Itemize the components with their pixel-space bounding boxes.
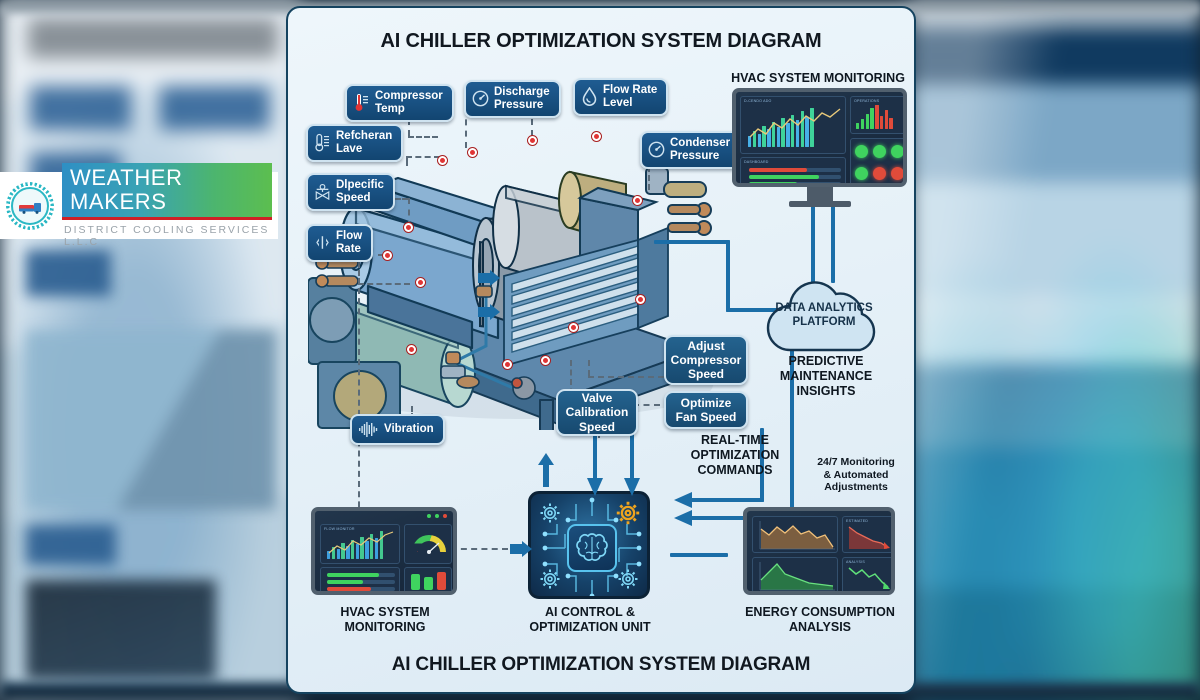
- gear-icon: [617, 568, 639, 590]
- command-label: Optimize Fan Speed: [676, 396, 737, 424]
- logo-title: WEATHER MAKERS: [62, 163, 272, 219]
- badge-label: Flow Rate: [336, 230, 362, 256]
- sensor-point: [592, 132, 601, 141]
- command-label: Valve Calibration Speed: [566, 391, 629, 433]
- sensor-point: [528, 136, 537, 145]
- water-drop-icon: [581, 87, 598, 106]
- sensor-point: [541, 356, 550, 365]
- page-title: AI CHILLER OPTIMIZATION SYSTEM DIAGRAM: [288, 30, 914, 53]
- arrow-left-icon: [674, 510, 692, 531]
- caption-hvac-monitoring-top: HVAC SYSTEM MONITORING: [718, 71, 916, 86]
- badge-flow-rate-level[interactable]: Flow Rate Level: [573, 78, 668, 116]
- blurred-background-left-lower: [26, 250, 276, 680]
- badge-label: Vibration: [384, 423, 434, 436]
- sensor-point: [404, 223, 413, 232]
- badge-discharge-pressure[interactable]: Discharge Pressure: [464, 80, 561, 118]
- connector-dashed: [406, 156, 440, 158]
- sensor-point: [633, 196, 642, 205]
- valve-icon: [314, 182, 331, 201]
- arrow-down-icon: [624, 478, 640, 501]
- screenshot-stage: WEATHER MAKERS DISTRICT COOLING SERVICES…: [0, 0, 1200, 700]
- connector-dashed: [588, 376, 664, 378]
- flow-meter-icon: [314, 233, 331, 252]
- connector-dashed: [588, 360, 590, 376]
- connector-solid: [831, 203, 835, 283]
- arrow-right-icon: [478, 270, 500, 291]
- command-label: Adjust Compressor Speed: [671, 339, 742, 381]
- gear-icon: [539, 568, 561, 590]
- gauge-icon: [472, 89, 489, 108]
- energy-consumption-panel: ESTIMATED ANALYSIS: [743, 507, 895, 595]
- connector-solid: [811, 203, 815, 283]
- connector-dashed: [406, 156, 408, 166]
- sensor-point: [468, 148, 477, 157]
- gear-icon: [539, 502, 561, 524]
- arrow-down-icon: [587, 478, 603, 501]
- weather-makers-logo: WEATHER MAKERS DISTRICT COOLING SERVICES…: [0, 172, 278, 239]
- hvac-dashboard-panel: FLOW MONITOR: [311, 507, 457, 595]
- logo-tagline: DISTRICT COOLING SERVICES L.L.C: [62, 224, 272, 248]
- connector-solid: [670, 553, 728, 557]
- arrow-right-icon: [478, 304, 500, 325]
- badge-flow-rate[interactable]: Flow Rate: [306, 224, 373, 262]
- diagram-card: AI CHILLER OPTIMIZATION SYSTEM DIAGRAM: [286, 6, 916, 694]
- command-adjust-compressor-speed[interactable]: Adjust Compressor Speed: [664, 335, 748, 385]
- thermometer-icon: [353, 93, 370, 112]
- brain-icon: [575, 532, 609, 564]
- badge-label: Flow Rate Level: [603, 84, 657, 110]
- connector-solid: [686, 498, 764, 502]
- gear-truck-logo-icon: [6, 182, 54, 230]
- badge-label: Refcheran Lave: [336, 130, 392, 156]
- command-valve-calibration-speed[interactable]: Valve Calibration Speed: [556, 389, 638, 436]
- gear-icon: [615, 500, 641, 526]
- footer-title: AI CHILLER OPTIMIZATION SYSTEM DIAGRAM: [288, 654, 914, 676]
- arrow-right-icon: [510, 541, 532, 562]
- sensor-point: [636, 295, 645, 304]
- blurred-background-right: [910, 0, 1200, 700]
- cloud-label: DATA ANALYTICS PLATFORM: [766, 302, 882, 329]
- badge-compressor-temp[interactable]: Compressor Temp: [345, 84, 454, 122]
- caption-realtime-commands: REAL-TIME OPTIMIZATION COMMANDS: [670, 433, 800, 478]
- badge-label: Condenser Pressure: [670, 137, 730, 163]
- sensor-point: [416, 278, 425, 287]
- connector-dashed: [408, 136, 438, 138]
- caption-hvac-system-monitoring: HVAC SYSTEM MONITORING: [298, 605, 472, 635]
- badge-refrigerant-level[interactable]: Refcheran Lave: [306, 124, 403, 162]
- command-optimize-fan-speed[interactable]: Optimize Fan Speed: [664, 391, 748, 429]
- sensor-point: [569, 323, 578, 332]
- hvac-monitor-display: D-CENDO ADO O: [732, 88, 907, 207]
- thermometer-scale-icon: [314, 133, 331, 152]
- arrow-up-icon: [538, 453, 554, 492]
- ai-control-chip: [528, 491, 650, 599]
- badge-label: Discharge Pressure: [494, 86, 550, 112]
- caption-monitoring-note: 24/7 Monitoring & Automated Adjustments: [806, 456, 906, 494]
- badge-label: Dlpecific Speed: [336, 179, 384, 205]
- caption-predictive-maintenance: PREDICTIVE MAINTENANCE INSIGHTS: [762, 354, 890, 399]
- gauge-icon: [648, 140, 665, 159]
- connector-solid: [654, 240, 730, 244]
- sensor-point: [383, 251, 392, 260]
- data-analytics-cloud: DATA ANALYTICS PLATFORM: [766, 280, 882, 354]
- badge-specific-speed[interactable]: Dlpecific Speed: [306, 173, 395, 211]
- badge-vibration[interactable]: Vibration: [350, 414, 445, 445]
- waveform-icon: [358, 420, 379, 439]
- sensor-point: [407, 345, 416, 354]
- connector-dashed: [358, 283, 410, 285]
- caption-ai-control-unit: AI CONTROL & OPTIMIZATION UNIT: [504, 605, 676, 635]
- sensor-point: [503, 360, 512, 369]
- connector-solid: [726, 240, 730, 312]
- badge-condenser-pressure[interactable]: Condenser Pressure: [640, 131, 741, 169]
- sensor-point: [438, 156, 447, 165]
- caption-energy-consumption-analysis: ENERGY CONSUMPTION ANALYSIS: [724, 605, 916, 635]
- badge-label: Compressor Temp: [375, 90, 443, 116]
